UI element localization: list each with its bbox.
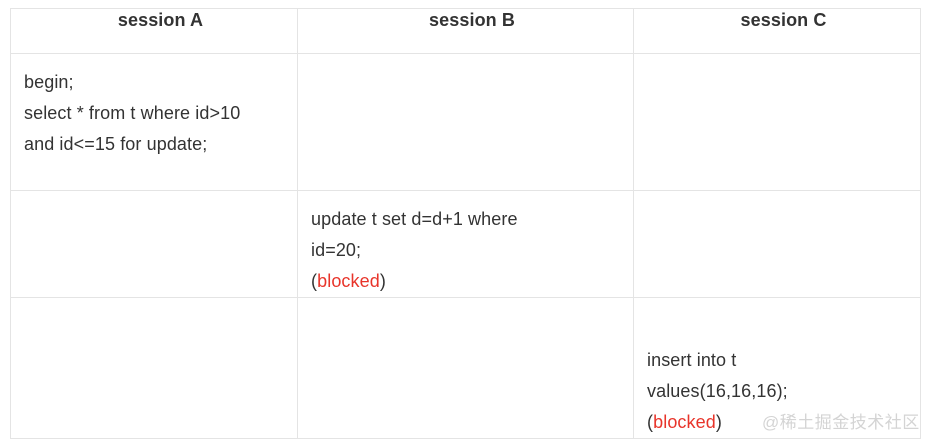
cell-row3-session-a (11, 298, 298, 439)
status-word-row3: blocked (653, 412, 716, 432)
status-word-row2: blocked (317, 271, 380, 291)
column-header-label-session-c: session C (634, 9, 920, 31)
cell-row2-session-b: update t set d=d+1 where id=20;(blocked) (298, 191, 634, 298)
table-row: update t set d=d+1 where id=20;(blocked) (11, 191, 921, 298)
sql-statement-row3-session-c: insert into t values(16,16,16); (647, 350, 788, 401)
sql-statement-row2-session-b: update t set d=d+1 where id=20; (311, 209, 518, 260)
table-body: begin; select * from t where id>10 and i… (11, 54, 921, 439)
cell-row3-session-c: insert into t values(16,16,16);(blocked) (634, 298, 921, 439)
status-close-paren-row3: ) (716, 412, 722, 432)
cell-row3-session-b (298, 298, 634, 439)
status-badge-row3-session-c: (blocked) (647, 412, 722, 432)
status-close-paren-row2: ) (380, 271, 386, 291)
column-header-session-a: session A (11, 9, 298, 54)
cell-row1-session-b (298, 54, 634, 191)
session-comparison-table-container: session A session B session C begin; sel… (10, 8, 920, 438)
sql-statement-block-row2-session-b: update t set d=d+1 where id=20;(blocked) (298, 191, 633, 297)
column-header-label-session-a: session A (11, 9, 297, 31)
status-badge-row2-session-b: (blocked) (311, 271, 386, 291)
column-header-label-session-b: session B (298, 9, 633, 31)
sql-statement-row1-session-a: begin; select * from t where id>10 and i… (11, 54, 297, 160)
cell-row1-session-a: begin; select * from t where id>10 and i… (11, 54, 298, 191)
session-comparison-table: session A session B session C begin; sel… (10, 8, 921, 439)
cell-row1-session-c (634, 54, 921, 191)
column-header-session-c: session C (634, 9, 921, 54)
table-row: insert into t values(16,16,16);(blocked) (11, 298, 921, 439)
sql-statement-block-row3-session-c: insert into t values(16,16,16);(blocked) (634, 298, 920, 438)
cell-row2-session-a (11, 191, 298, 298)
table-header: session A session B session C (11, 9, 921, 54)
table-row: begin; select * from t where id>10 and i… (11, 54, 921, 191)
column-header-session-b: session B (298, 9, 634, 54)
table-header-row: session A session B session C (11, 9, 921, 54)
cell-row2-session-c (634, 191, 921, 298)
